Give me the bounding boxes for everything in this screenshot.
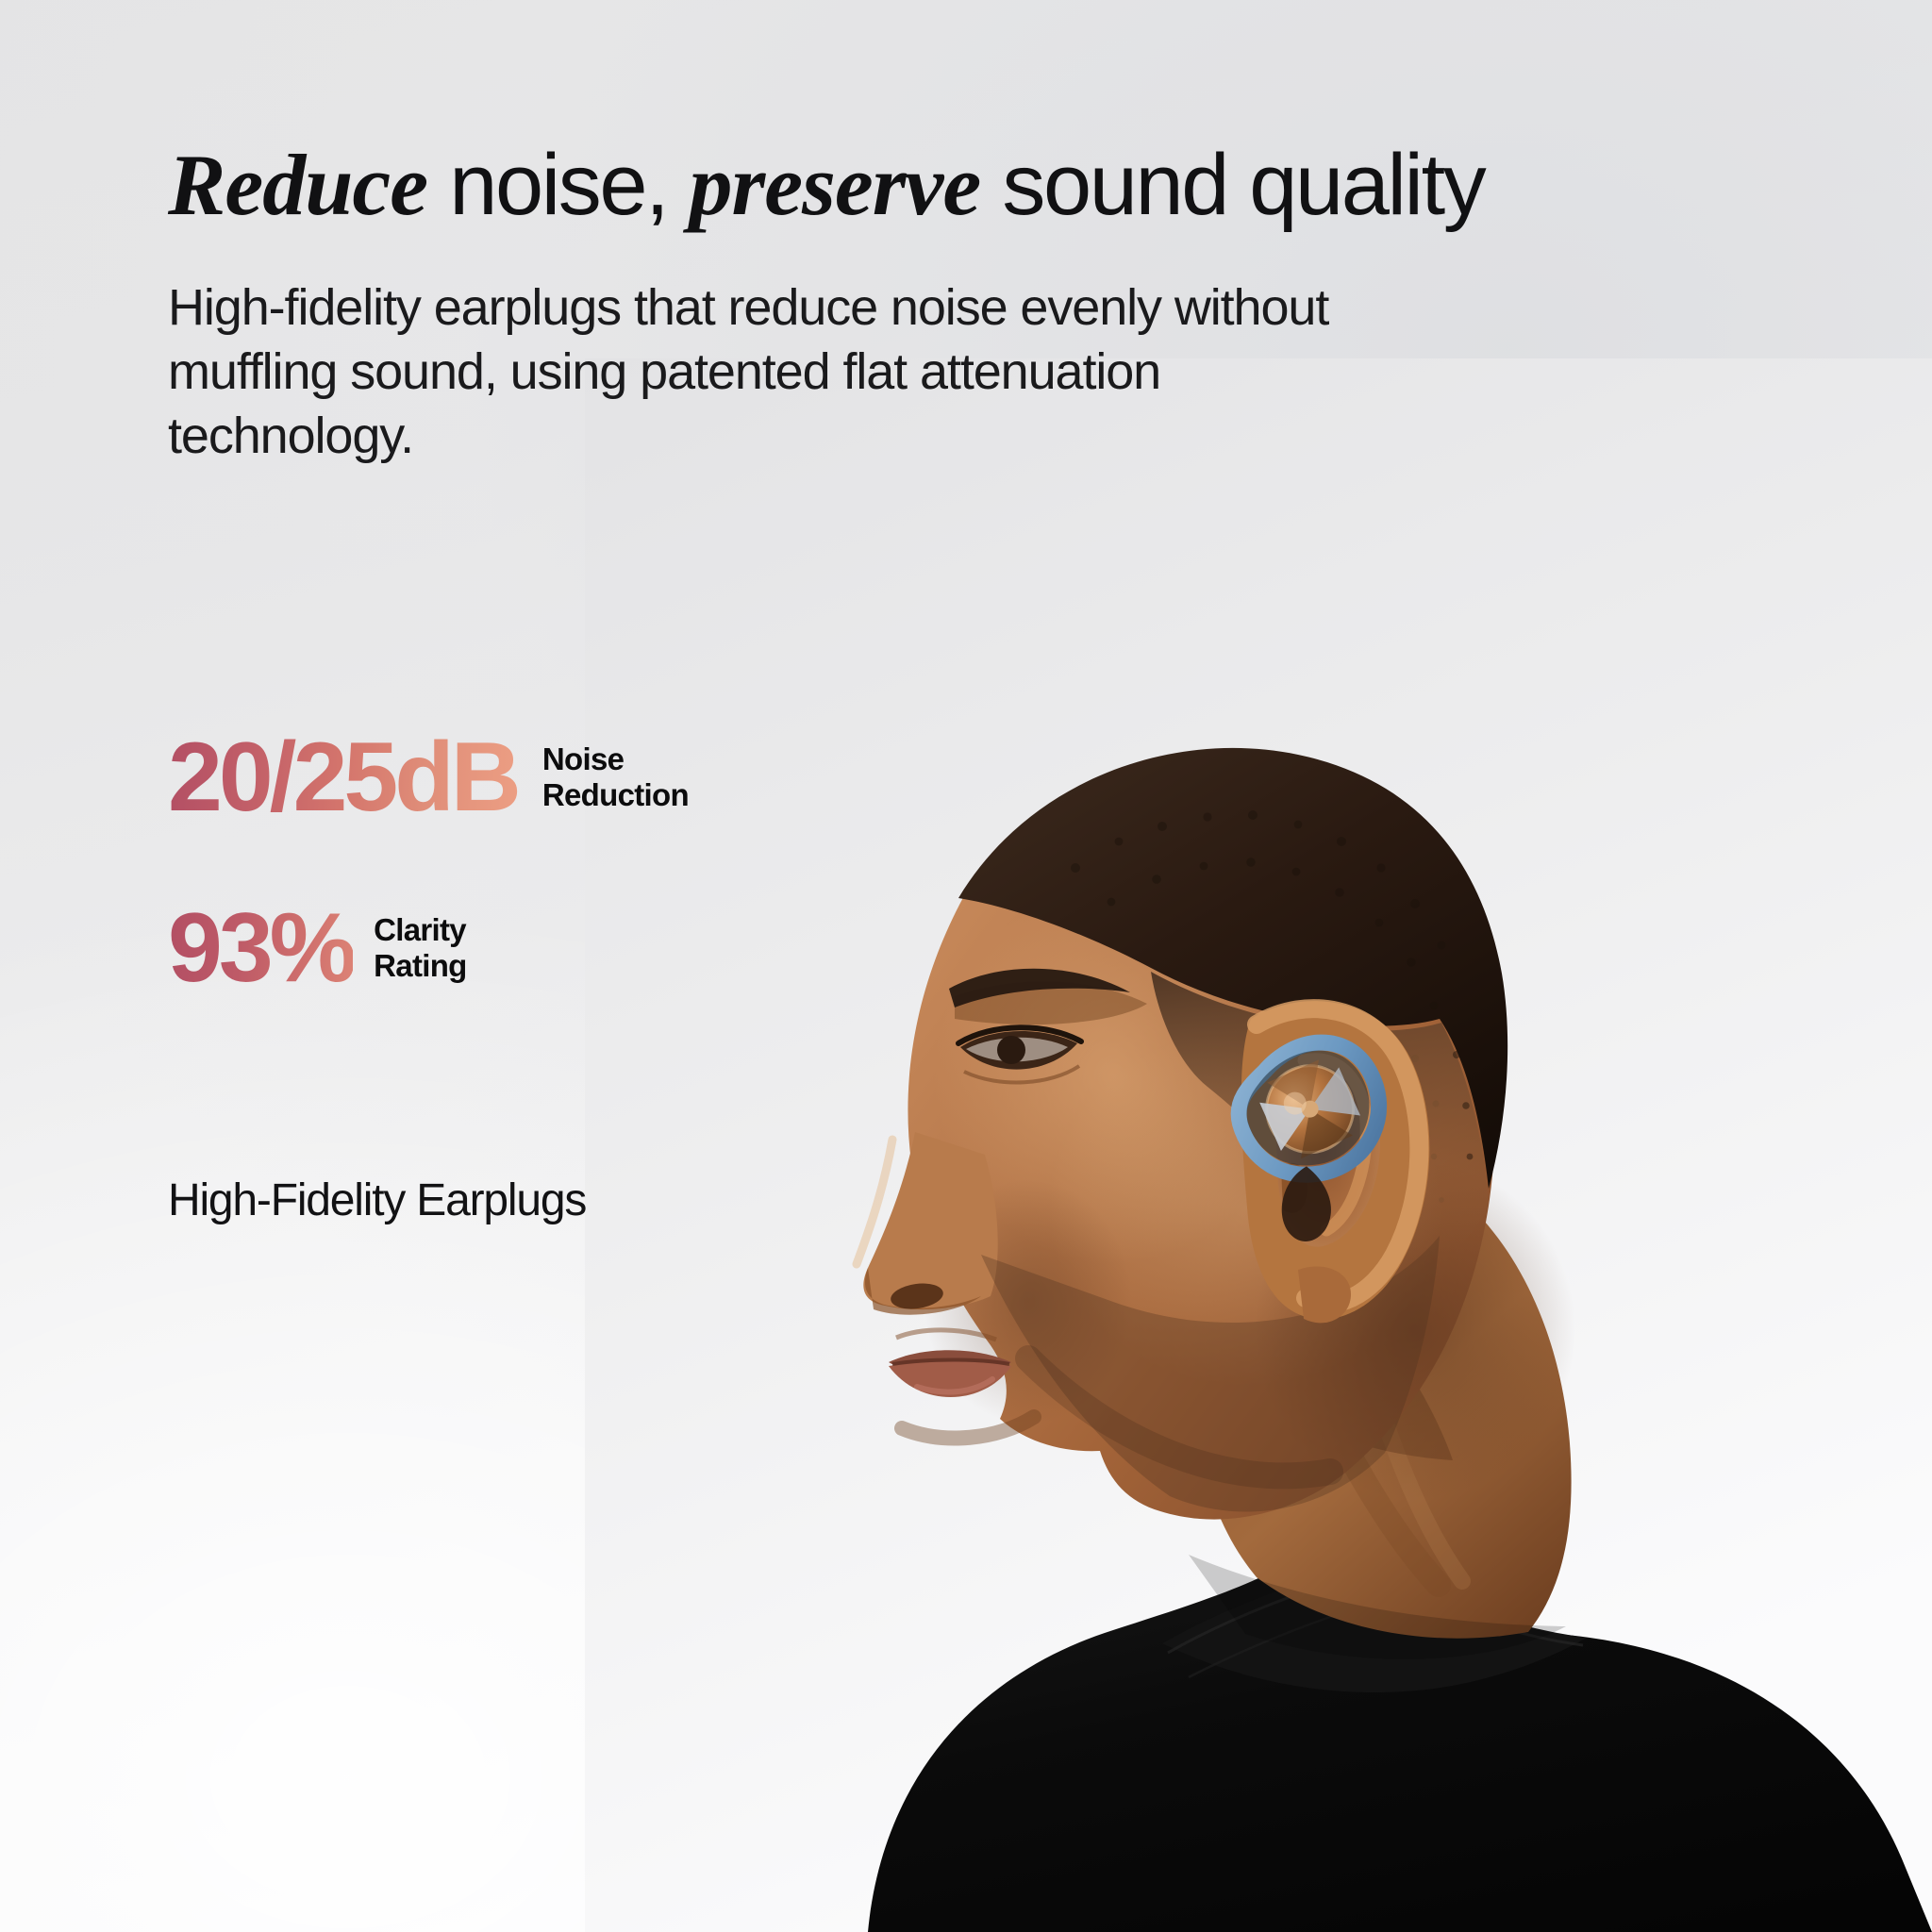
stat-clarity-rating: 93% Clarity Rating [168,902,689,995]
model-portrait [585,358,1932,1932]
stat-value-clarity-rating: 93% [168,902,353,995]
stat-noise-reduction: 20/25dB Noise Reduction [168,731,689,824]
subheadline: High-fidelity earplugs that reduce noise… [168,275,1385,468]
headline-emphasis-2: preserve [689,137,980,233]
stat-value-noise-reduction: 20/25dB [168,731,518,824]
headline-plain-1: noise, [427,137,689,233]
ad-canvas: Reduce noise, preserve sound quality Hig… [0,0,1932,1932]
headline-plain-2: sound quality [980,137,1484,233]
stats-group: 20/25dB Noise Reduction 93% Clarity Rati… [168,731,689,995]
hero-photo [585,358,1932,1932]
headline-emphasis-1: Reduce [168,137,427,233]
copy-block: Reduce noise, preserve sound quality Hig… [168,142,1772,468]
stat-label-noise-reduction: Noise Reduction [542,741,689,814]
page-title: Reduce noise, preserve sound quality [168,142,1772,228]
stat-label-clarity-rating: Clarity Rating [374,912,466,985]
product-caption: High-Fidelity Earplugs [168,1174,586,1226]
